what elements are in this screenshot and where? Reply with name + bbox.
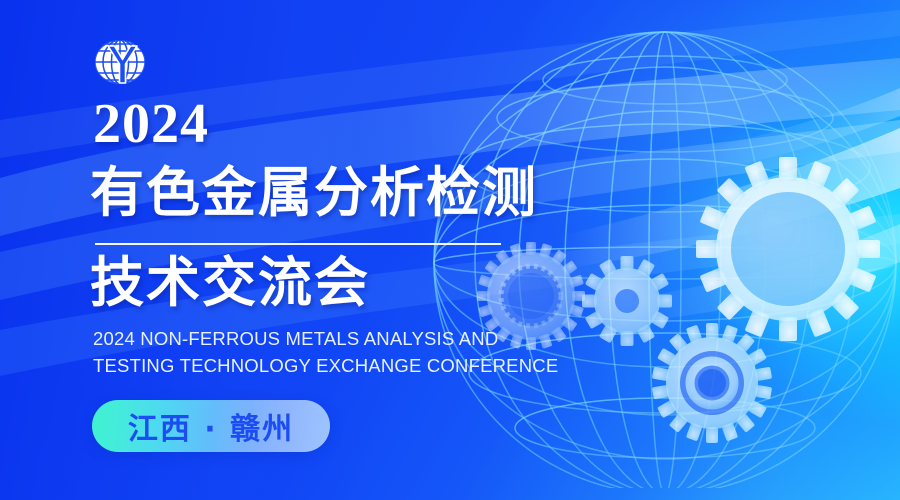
location-badge: 江西 · 赣州 bbox=[92, 400, 330, 452]
title-line-1: 有色金属分析检测 bbox=[90, 165, 538, 221]
location-badge-label: 江西 · 赣州 bbox=[128, 404, 294, 448]
globe-monogram-logo-icon bbox=[92, 36, 148, 88]
banner-content: 2024 有色金属分析检测 技术交流会 2024 NON-FERROUS MET… bbox=[0, 0, 900, 500]
year-heading: 2024 bbox=[93, 96, 209, 152]
title-divider bbox=[95, 243, 501, 245]
english-subtitle-line-1: 2024 NON-FERROUS METALS ANALYSIS AND bbox=[93, 326, 533, 353]
conference-banner: 2024 有色金属分析检测 技术交流会 2024 NON-FERROUS MET… bbox=[0, 0, 900, 500]
english-subtitle: 2024 NON-FERROUS METALS ANALYSIS AND TES… bbox=[93, 326, 533, 380]
english-subtitle-line-2: TESTING TECHNOLOGY EXCHANGE CONFERENCE bbox=[93, 353, 533, 380]
title-line-2: 技术交流会 bbox=[90, 255, 370, 311]
